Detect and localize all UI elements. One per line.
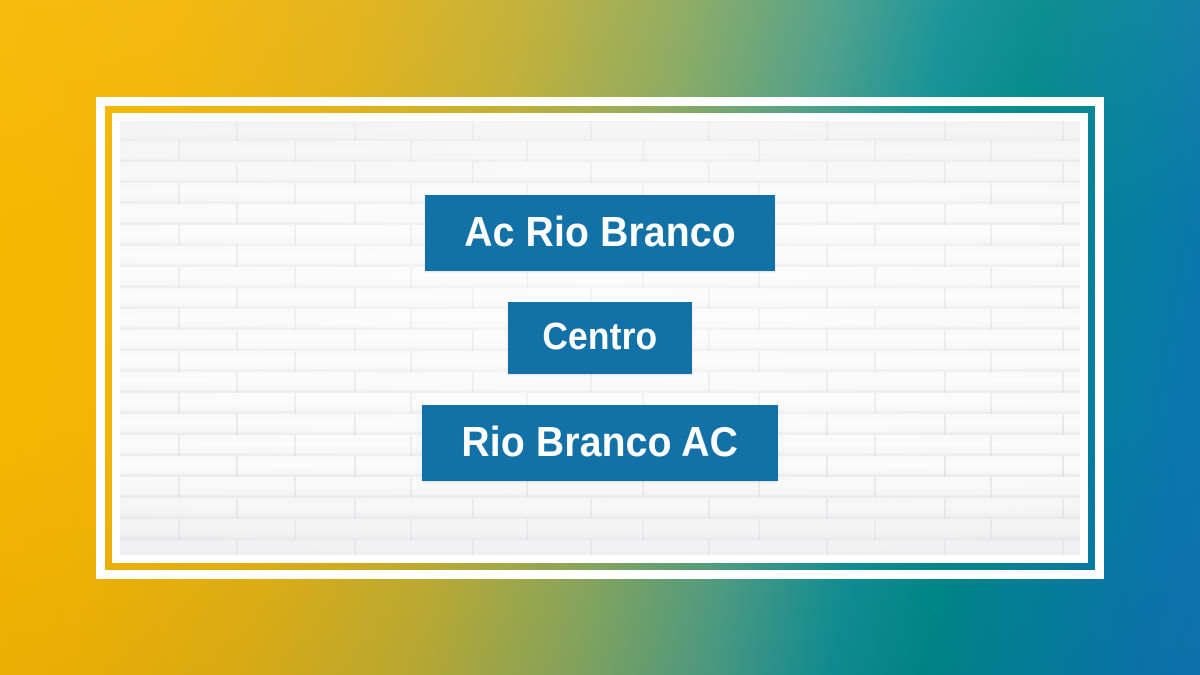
label-stack: Ac Rio Branco Centro Rio Branco AC — [0, 0, 1200, 675]
label-banner-primary-text: Ac Rio Branco — [464, 211, 736, 253]
graphic-canvas: Ac Rio Branco Centro Rio Branco AC — [0, 0, 1200, 675]
label-banner-primary: Ac Rio Branco — [425, 195, 775, 271]
label-banner-tertiary: Rio Branco AC — [422, 405, 777, 481]
label-banner-secondary-text: Centro — [542, 318, 657, 356]
label-banner-tertiary-text: Rio Branco AC — [462, 421, 739, 463]
label-banner-secondary: Centro — [508, 302, 692, 374]
